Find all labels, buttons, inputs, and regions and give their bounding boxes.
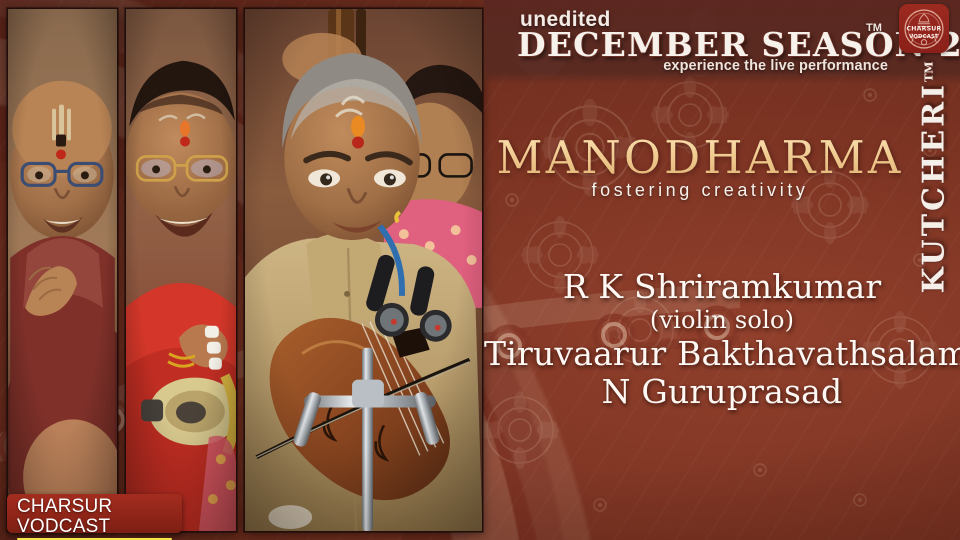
photo-panel-violinist [244, 8, 483, 532]
svg-text:CHARSUR: CHARSUR [907, 25, 942, 32]
artist-role: (violin solo) [484, 306, 960, 334]
kutcheri-trademark-icon: TM [923, 61, 936, 81]
artist-name: Tiruvaarur Bakthavathsalam [484, 335, 960, 373]
photo-panel-vocalist [7, 8, 118, 532]
artist-name: N Guruprasad [484, 373, 960, 411]
artist-list: R K Shriramkumar (violin solo) Tiruvaaru… [484, 268, 960, 411]
brand-subtitle: fostering creativity [484, 180, 916, 201]
header-band: unedited DECEMBER SEASON 2023 TM experie… [484, 0, 960, 84]
svg-text:VODCAST: VODCAST [909, 33, 939, 39]
artist-name: R K Shriramkumar [484, 268, 960, 306]
brand-title: MANODHARMA [484, 131, 916, 184]
header-tagline: experience the live performance [663, 58, 888, 74]
logo-primary-text: CHARSUR VODCAST [17, 497, 172, 537]
thumbnail-canvas: unedited DECEMBER SEASON 2023 TM experie… [0, 0, 960, 540]
photo-panel-mridangist [125, 8, 237, 532]
season-trademark-icon: TM [866, 22, 882, 34]
charsur-vodcast-badge-icon: CHARSUR VODCAST [899, 4, 949, 53]
charsur-vodcast-logo: CHARSUR VODCAST pristine carnatic music [7, 494, 182, 533]
kutcheri-text: KUTCHERI [917, 81, 952, 293]
